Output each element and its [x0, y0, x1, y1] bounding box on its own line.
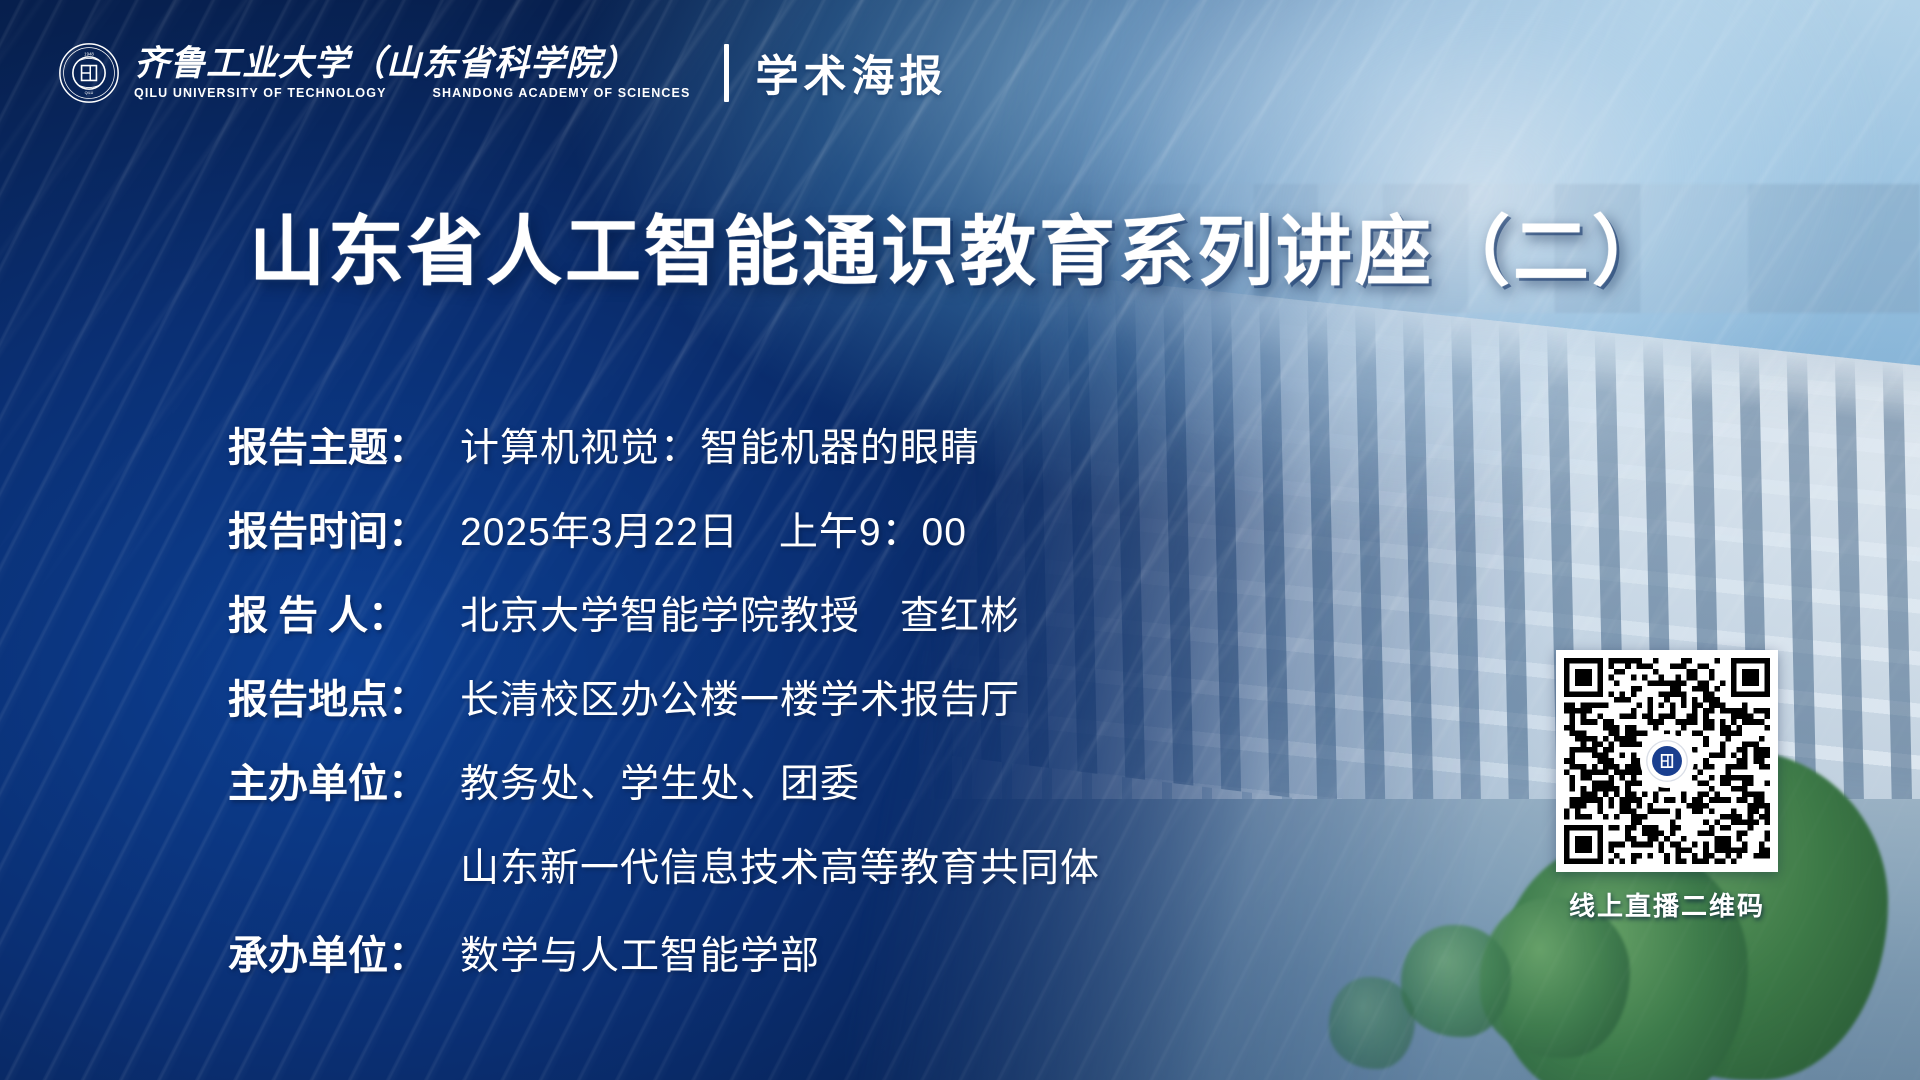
detail-row: 报告地点：长清校区办公楼一楼学术报告厅	[228, 667, 1100, 725]
detail-row: 报告主题：计算机视觉：智能机器的眼睛	[228, 415, 1100, 473]
university-name-en-right: SHANDONG ACADEMY OF SCIENCES	[433, 86, 691, 100]
detail-value: 教务处、学生处、团委	[460, 753, 860, 809]
detail-value: 山东新一代信息技术高等教育共同体	[460, 837, 1100, 893]
header-divider	[724, 44, 729, 102]
qr-center-logo	[1642, 736, 1692, 786]
lecture-details-list: 报告主题：计算机视觉：智能机器的眼睛报告时间：2025年3月22日 上午9：00…	[228, 415, 1100, 1007]
detail-label: 报告时间：	[228, 499, 450, 557]
detail-label: 承办单位：	[228, 923, 450, 981]
page-title: 山东省人工智能通识教育系列讲座（二）	[0, 190, 1920, 300]
university-name-en: QILU UNIVERSITY OF TECHNOLOGY SHANDONG A…	[134, 86, 690, 100]
detail-value: 2025年3月22日 上午9：00	[460, 501, 967, 557]
qr-caption: 线上直播二维码	[1556, 886, 1778, 923]
detail-value: 长清校区办公楼一楼学术报告厅	[460, 669, 1020, 725]
poster-header: 1948 QILU 齐鲁工业大学（山东省科学院） QILU UNIVERSITY…	[58, 42, 947, 104]
poster-canvas: 1948 QILU 齐鲁工业大学（山东省科学院） QILU UNIVERSITY…	[0, 0, 1920, 1080]
detail-label: 主办单位：	[228, 751, 450, 809]
detail-label: 报告地点：	[228, 667, 450, 725]
detail-value: 北京大学智能学院教授 查红彬	[460, 585, 1020, 641]
svg-text:1948: 1948	[84, 52, 94, 57]
detail-row: 报 告 人：北京大学智能学院教授 查红彬	[228, 583, 1100, 641]
qilu-university-crest-icon: 1948 QILU	[58, 42, 120, 104]
university-name-en-left: QILU UNIVERSITY OF TECHNOLOGY	[134, 86, 387, 100]
detail-row: 承办单位：数学与人工智能学部	[228, 923, 1100, 981]
qilu-university-crest-icon	[1645, 739, 1689, 783]
detail-label: 报告主题：	[228, 415, 450, 473]
svg-text:QILU: QILU	[85, 91, 94, 95]
detail-value: 数学与人工智能学部	[460, 925, 820, 981]
poster-type-label: 学术海报	[755, 42, 947, 104]
qr-code[interactable]	[1556, 650, 1778, 872]
detail-row: 报告时间：2025年3月22日 上午9：00	[228, 499, 1100, 557]
livestream-qr-block: 线上直播二维码	[1556, 650, 1778, 923]
university-name-block: 齐鲁工业大学（山东省科学院） QILU UNIVERSITY OF TECHNO…	[134, 46, 690, 100]
detail-row: 主办单位：教务处、学生处、团委	[228, 751, 1100, 809]
detail-row: 主办单位：山东新一代信息技术高等教育共同体	[228, 835, 1100, 893]
detail-label: 报 告 人：	[228, 583, 450, 641]
detail-value: 计算机视觉：智能机器的眼睛	[460, 417, 980, 473]
university-name-cn: 齐鲁工业大学（山东省科学院）	[134, 46, 690, 83]
